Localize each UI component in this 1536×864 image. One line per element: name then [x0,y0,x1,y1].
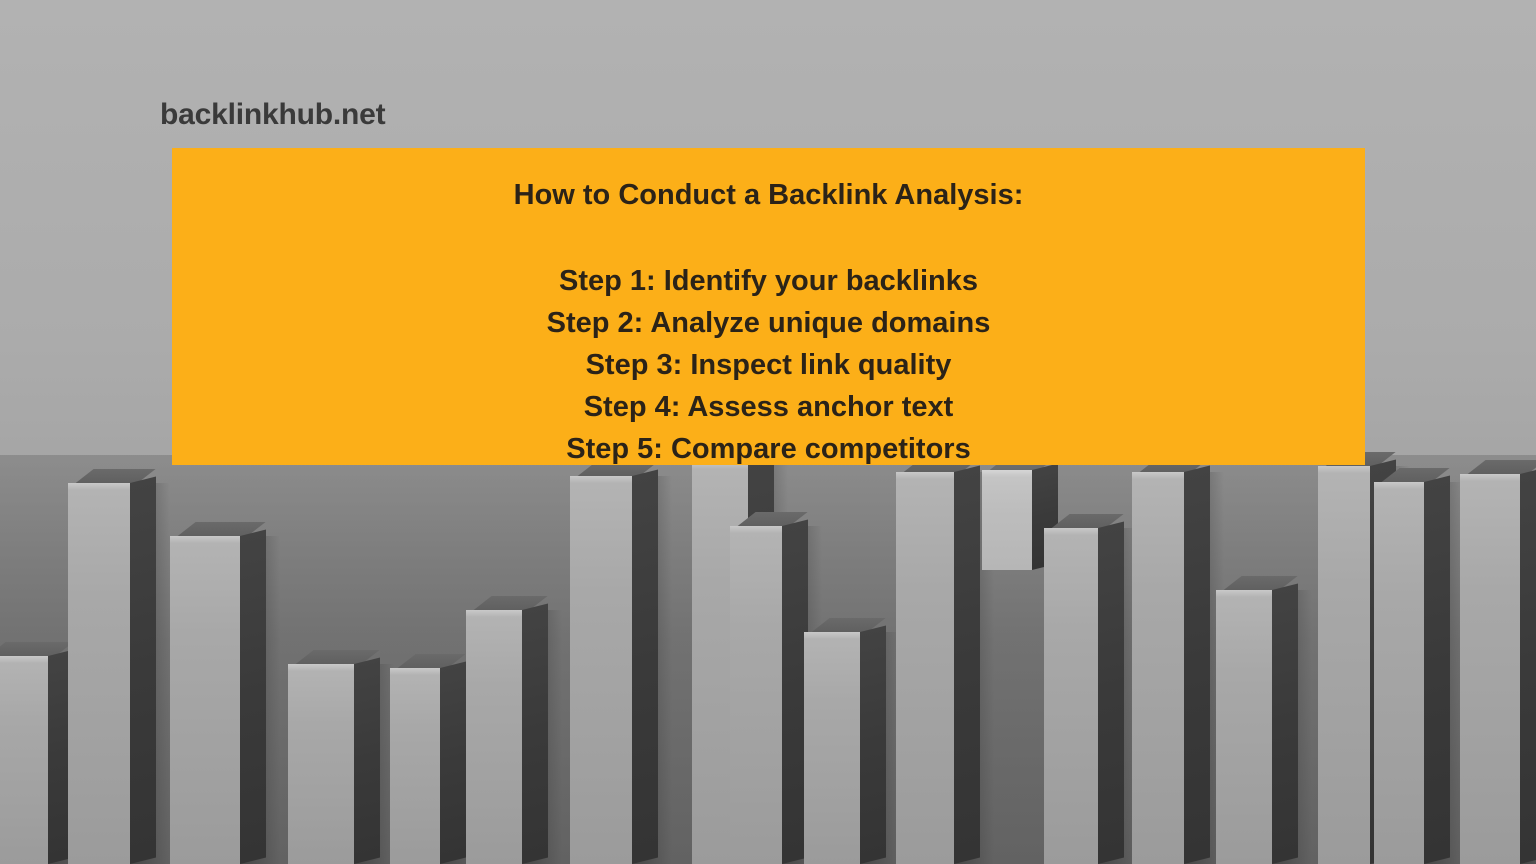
chart-bar [1374,482,1424,864]
chart-bar [68,483,130,864]
chart-bar-highlighted [982,470,1032,570]
card-title: How to Conduct a Backlink Analysis: [172,166,1365,216]
poster-canvas: backlinkhub.net How to Conduct a Backlin… [0,0,1536,864]
chart-bar [390,668,440,864]
chart-bar [730,526,782,864]
chart-bar [1460,474,1520,864]
step-item-3: Step 3: Inspect link quality [172,344,1365,386]
site-logo: backlinkhub.net [160,98,385,132]
step-item-2: Step 2: Analyze unique domains [172,302,1365,344]
step-list: Step 1: Identify your backlinks Step 2: … [172,260,1365,470]
step-item-5: Step 5: Compare competitors [172,428,1365,470]
step-item-1: Step 1: Identify your backlinks [172,260,1365,302]
content-card: How to Conduct a Backlink Analysis: Step… [172,148,1365,465]
chart-bar [570,476,632,864]
chart-bar [288,664,354,864]
chart-bar [1318,466,1370,864]
chart-bar [1132,472,1184,864]
step-item-4: Step 4: Assess anchor text [172,386,1365,428]
chart-bar [804,632,860,864]
chart-bar [0,656,48,864]
chart-bar [170,536,240,864]
chart-bar [896,472,954,864]
chart-bar [466,610,522,864]
chart-bar [1044,528,1098,864]
chart-bar [1216,590,1272,864]
